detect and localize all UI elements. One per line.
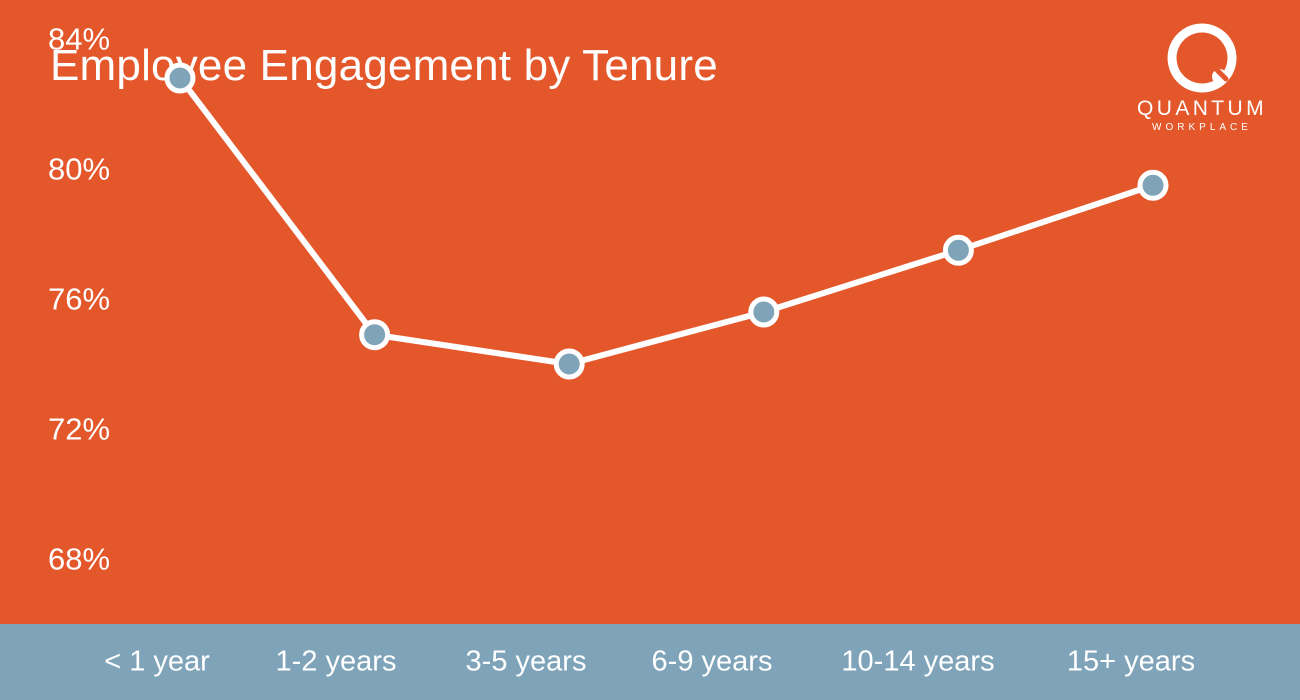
y-axis-tick-label: 80%: [48, 154, 110, 185]
y-axis-tick-label: 84%: [48, 24, 110, 55]
y-axis-tick-label: 68%: [48, 544, 110, 575]
x-axis-tick-label: 3-5 years: [466, 648, 587, 677]
data-point-marker[interactable]: [1140, 172, 1166, 198]
line-chart-svg: [0, 0, 1300, 624]
data-point-marker[interactable]: [167, 65, 193, 91]
plot-area: 84%80%76%72%68%: [0, 0, 1300, 624]
data-point-marker[interactable]: [945, 237, 971, 263]
data-point-markers: [167, 65, 1166, 377]
x-axis-tick-label: 1-2 years: [276, 648, 397, 677]
data-point-marker[interactable]: [751, 299, 777, 325]
data-point-marker[interactable]: [556, 351, 582, 377]
x-axis-band: < 1 year1-2 years3-5 years6-9 years10-14…: [0, 624, 1300, 700]
series-line: [180, 78, 1153, 364]
x-axis-tick-label: 15+ years: [1067, 648, 1195, 677]
y-axis-tick-label: 72%: [48, 414, 110, 445]
x-axis-tick-label: < 1 year: [104, 648, 210, 677]
y-axis-tick-label: 76%: [48, 284, 110, 315]
x-axis-tick-label: 6-9 years: [652, 648, 773, 677]
data-point-marker[interactable]: [362, 322, 388, 348]
engagement-chart-infographic: Employee Engagement by Tenure QUANTUM WO…: [0, 0, 1300, 700]
x-axis-tick-label: 10-14 years: [841, 648, 994, 677]
